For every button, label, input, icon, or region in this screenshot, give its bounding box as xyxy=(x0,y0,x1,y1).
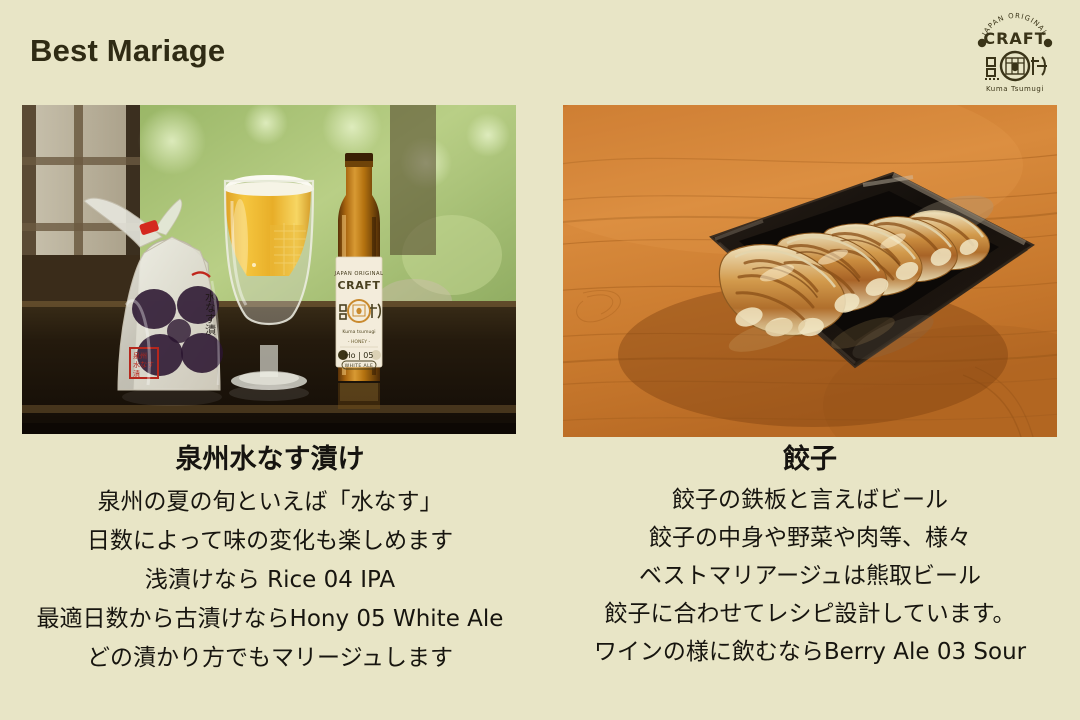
slide-root: Best Mariage JAPAN ORIGINAL CRAFT xyxy=(0,0,1080,720)
caption-line-right-5: ワインの様に飲むならBerry Ale 03 Sour xyxy=(540,633,1080,671)
caption-line-left-2: 日数によって味の変化も楽しめます xyxy=(0,522,540,561)
caption-line-left-5: どの漬かり方でもマリージュします xyxy=(0,639,540,678)
svg-text:WHITE ALE: WHITE ALE xyxy=(345,363,374,369)
photo-gyoza-plate xyxy=(563,105,1057,437)
caption-line-right-1: 餃子の鉄板と言えばビール xyxy=(540,481,1080,519)
svg-text:- HONEY -: - HONEY - xyxy=(348,339,371,345)
caption-column-mizunasu: 泉州水なす漬け 泉州の夏の旬といえば「水なす」 日数によって味の変化も楽しめます… xyxy=(0,443,540,678)
svg-text:Ho | 05: Ho | 05 xyxy=(345,351,374,360)
caption-line-left-4: 最適日数から古漬けならHony 05 White Ale xyxy=(0,600,540,639)
caption-heading-right: 餃子 xyxy=(540,443,1080,477)
svg-text:JAPAN ORIGINAL: JAPAN ORIGINAL xyxy=(334,271,384,277)
caption-line-left-3: 浅漬けなら Rice 04 IPA xyxy=(0,561,540,600)
caption-column-gyoza: 餃子 餃子の鉄板と言えばビール 餃子の中身や野菜や肉等、様々 ベストマリアージュ… xyxy=(540,443,1080,671)
svg-text:Kuma Tsumugi: Kuma Tsumugi xyxy=(986,85,1044,93)
svg-text:Kuma tsumugi: Kuma tsumugi xyxy=(342,329,375,335)
brand-logo: JAPAN ORIGINAL CRAFT xyxy=(965,6,1065,98)
caption-heading-left: 泉州水なす漬け xyxy=(0,443,540,477)
svg-text:CRAFT: CRAFT xyxy=(983,29,1046,48)
page-title: Best Mariage xyxy=(30,33,225,69)
svg-text:泉州: 泉州 xyxy=(133,351,147,360)
caption-line-right-3: ベストマリアージュは熊取ビール xyxy=(540,557,1080,595)
caption-line-right-4: 餃子に合わせてレシピ設計しています。 xyxy=(540,595,1080,633)
svg-text:CRAFT: CRAFT xyxy=(337,279,380,292)
svg-text:漬: 漬 xyxy=(133,369,140,378)
photo-mizunasu-pickles-beer: 水なす漬 泉州 水なす 漬 xyxy=(22,105,516,434)
caption-line-right-2: 餃子の中身や野菜や肉等、様々 xyxy=(540,519,1080,557)
caption-line-left-1: 泉州の夏の旬といえば「水なす」 xyxy=(0,483,540,522)
